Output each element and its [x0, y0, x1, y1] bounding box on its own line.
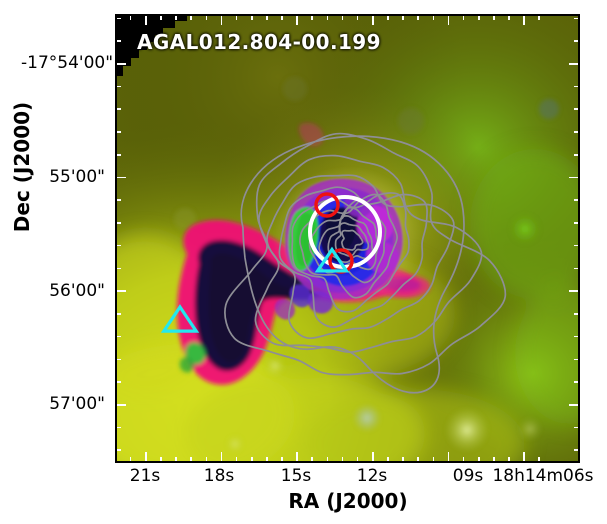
- tick-mark: [175, 14, 177, 20]
- tick-mark: [160, 14, 162, 20]
- tick-mark: [493, 14, 495, 20]
- image-panel[interactable]: AGAL012.804-00.199: [115, 14, 580, 463]
- tick-mark: [523, 452, 525, 463]
- tick-mark: [296, 14, 298, 25]
- tick-mark: [115, 359, 121, 361]
- y-tick-label-0: -17°54'00": [21, 53, 105, 73]
- figure-root: Dec (J2000) -17°54'00"55'00"56'00"57'00": [0, 0, 607, 524]
- tick-mark: [115, 131, 121, 133]
- tick-mark: [569, 63, 580, 65]
- tick-mark: [327, 457, 329, 463]
- tick-mark: [236, 457, 238, 463]
- tick-mark: [115, 177, 126, 179]
- tick-mark: [115, 268, 121, 270]
- tick-mark: [342, 14, 344, 20]
- tick-mark: [115, 427, 121, 429]
- x-tick-label-1: 18s: [204, 466, 235, 486]
- tick-mark: [574, 108, 580, 110]
- tick-mark: [433, 457, 435, 463]
- tick-mark: [281, 457, 283, 463]
- tick-mark: [417, 14, 419, 20]
- sky-image: [115, 14, 580, 463]
- y-tick-label-2: 56'00": [21, 281, 105, 301]
- tick-mark: [266, 14, 268, 20]
- tick-mark: [574, 18, 580, 20]
- tick-mark: [327, 14, 329, 20]
- tick-mark: [574, 131, 580, 133]
- tick-mark: [417, 457, 419, 463]
- tick-mark: [574, 40, 580, 42]
- tick-mark: [266, 457, 268, 463]
- tick-mark: [538, 457, 540, 463]
- tick-mark: [311, 14, 313, 20]
- tick-mark: [115, 381, 121, 383]
- tick-mark: [251, 14, 253, 20]
- tick-mark: [574, 336, 580, 338]
- tick-mark: [478, 14, 480, 20]
- tick-mark: [463, 14, 465, 20]
- tick-mark: [115, 290, 126, 292]
- y-tick-label-1: 55'00": [21, 167, 105, 187]
- tick-mark: [402, 14, 404, 20]
- tick-mark: [115, 313, 121, 315]
- tick-mark: [115, 18, 121, 20]
- x-tick-label-4: 09s: [453, 466, 484, 486]
- x-tick-label-2: 15s: [281, 466, 312, 486]
- tick-mark: [115, 108, 121, 110]
- tick-mark: [523, 14, 525, 25]
- tick-mark: [372, 452, 374, 463]
- tick-mark: [115, 222, 121, 224]
- tick-mark: [574, 268, 580, 270]
- x-tick-label-3: 12s: [357, 466, 388, 486]
- tick-mark: [251, 457, 253, 463]
- tick-mark: [130, 14, 132, 20]
- tick-mark: [115, 63, 126, 65]
- tick-mark: [463, 457, 465, 463]
- tick-mark: [574, 449, 580, 451]
- tick-mark: [236, 14, 238, 20]
- x-tick-label-0: 21s: [130, 466, 161, 486]
- tick-mark: [448, 452, 450, 463]
- tick-mark: [115, 404, 126, 406]
- tick-mark: [130, 457, 132, 463]
- tick-mark: [281, 14, 283, 20]
- tick-mark: [145, 452, 147, 463]
- tick-mark: [115, 449, 121, 451]
- tick-mark: [508, 14, 510, 20]
- tick-mark: [569, 177, 580, 179]
- tick-mark: [574, 427, 580, 429]
- tick-mark: [115, 154, 121, 156]
- x-axis-title: RA (J2000): [115, 489, 581, 513]
- tick-mark: [145, 14, 147, 25]
- y-tick-label-3: 57'00": [21, 394, 105, 414]
- tick-mark: [493, 457, 495, 463]
- tick-mark: [387, 457, 389, 463]
- tick-mark: [342, 457, 344, 463]
- tick-mark: [160, 457, 162, 463]
- tick-mark: [569, 290, 580, 292]
- tick-mark: [206, 457, 208, 463]
- tick-mark: [574, 154, 580, 156]
- tick-mark: [115, 336, 121, 338]
- tick-mark: [206, 14, 208, 20]
- tick-mark: [574, 359, 580, 361]
- tick-mark: [574, 245, 580, 247]
- tick-mark: [508, 457, 510, 463]
- tick-mark: [357, 14, 359, 20]
- tick-mark: [115, 245, 121, 247]
- y-tick-labels: -17°54'00"55'00"56'00"57'00": [0, 0, 105, 470]
- tick-mark: [387, 14, 389, 20]
- tick-mark: [221, 14, 223, 25]
- tick-mark: [357, 457, 359, 463]
- tick-mark: [311, 457, 313, 463]
- tick-mark: [569, 404, 580, 406]
- tick-mark: [296, 452, 298, 463]
- tick-mark: [448, 14, 450, 25]
- tick-mark: [574, 199, 580, 201]
- panel-title: AGAL012.804-00.199: [137, 30, 381, 54]
- tick-mark: [574, 313, 580, 315]
- tick-mark: [538, 14, 540, 20]
- x-tick-label-5: 18h14m06s: [492, 466, 593, 486]
- tick-mark: [115, 86, 121, 88]
- tick-mark: [574, 86, 580, 88]
- tick-mark: [190, 457, 192, 463]
- tick-mark: [372, 14, 374, 25]
- tick-mark: [115, 40, 121, 42]
- tick-mark: [190, 14, 192, 20]
- tick-mark: [221, 452, 223, 463]
- tick-mark: [175, 457, 177, 463]
- tick-mark: [115, 199, 121, 201]
- tick-mark: [402, 457, 404, 463]
- tick-mark: [574, 381, 580, 383]
- tick-mark: [478, 457, 480, 463]
- tick-mark: [574, 222, 580, 224]
- tick-mark: [433, 14, 435, 20]
